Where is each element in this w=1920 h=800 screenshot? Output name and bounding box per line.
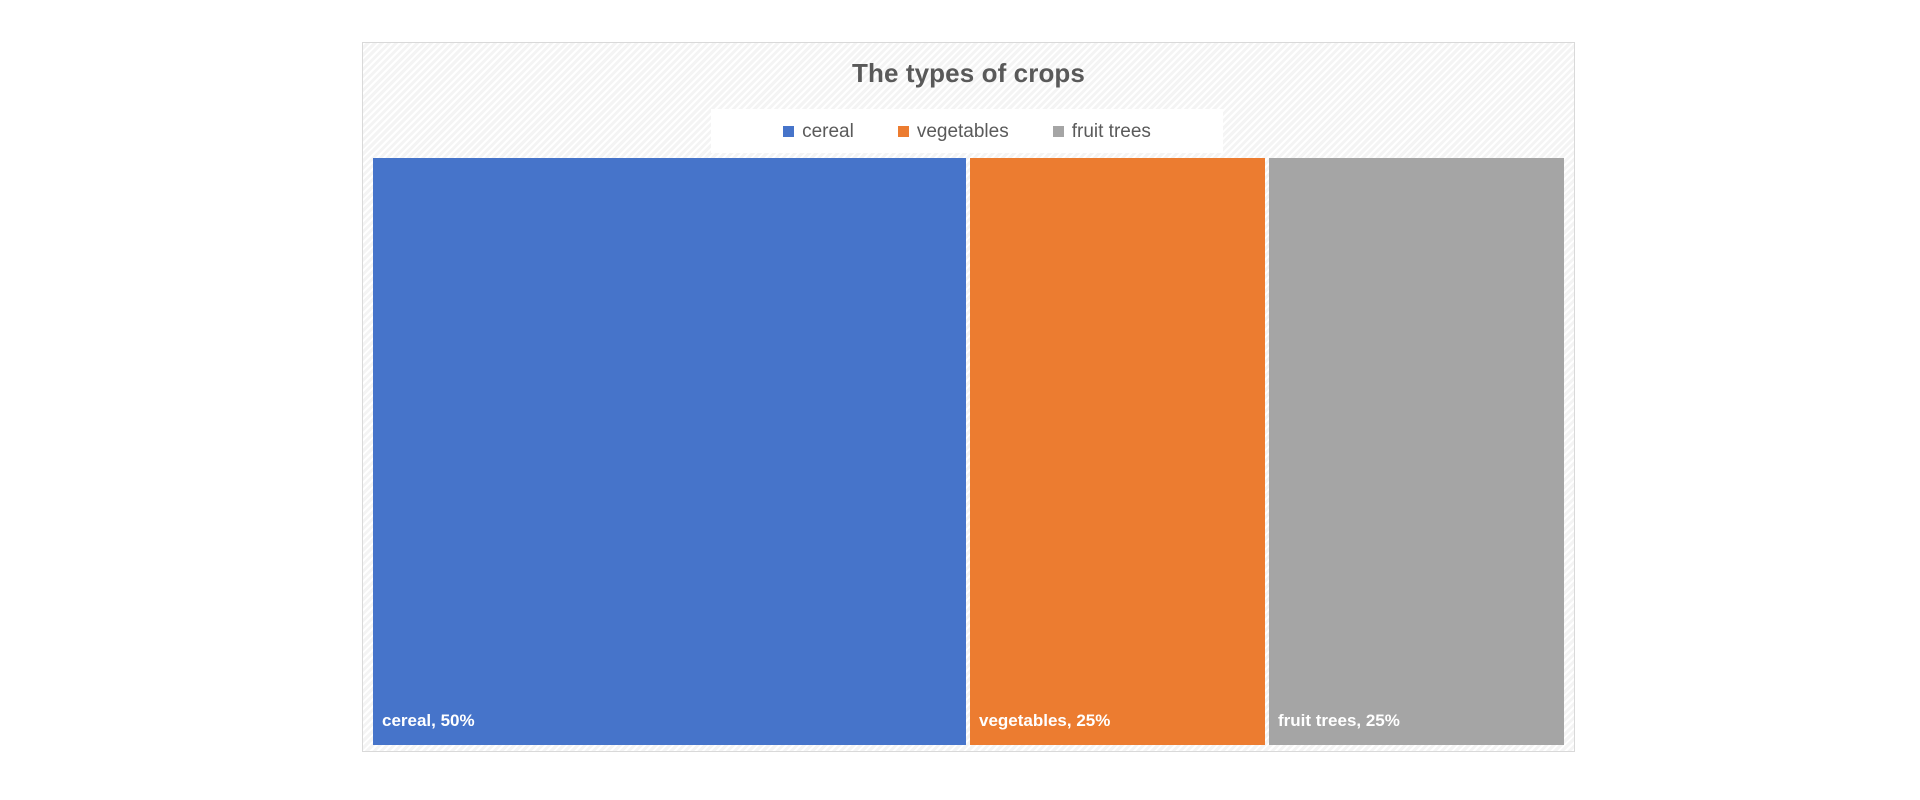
chart-title: The types of crops bbox=[363, 58, 1574, 89]
legend-swatch-fruit-trees bbox=[1053, 126, 1064, 137]
treemap-tile-label-cereal: cereal, 50% bbox=[382, 711, 475, 731]
legend-swatch-cereal bbox=[783, 126, 794, 137]
legend-label-vegetables: vegetables bbox=[917, 122, 1009, 141]
legend-swatch-vegetables bbox=[898, 126, 909, 137]
treemap-plot-area: cereal, 50% vegetables, 25% fruit trees,… bbox=[373, 158, 1564, 745]
chart-container[interactable]: The types of crops cereal vegetables fru… bbox=[362, 42, 1575, 752]
treemap-tile-label-vegetables: vegetables, 25% bbox=[979, 711, 1110, 731]
legend-label-fruit-trees: fruit trees bbox=[1072, 122, 1151, 141]
legend-item-cereal[interactable]: cereal bbox=[783, 122, 854, 141]
chart-legend[interactable]: cereal vegetables fruit trees bbox=[711, 109, 1223, 153]
treemap-tile-label-fruit-trees: fruit trees, 25% bbox=[1278, 711, 1400, 731]
legend-item-vegetables[interactable]: vegetables bbox=[898, 122, 1009, 141]
treemap-tile-cereal[interactable]: cereal, 50% bbox=[373, 158, 966, 745]
treemap-tile-fruit-trees[interactable]: fruit trees, 25% bbox=[1269, 158, 1564, 745]
legend-label-cereal: cereal bbox=[802, 122, 854, 141]
legend-item-fruit-trees[interactable]: fruit trees bbox=[1053, 122, 1151, 141]
treemap-tile-vegetables[interactable]: vegetables, 25% bbox=[970, 158, 1265, 745]
